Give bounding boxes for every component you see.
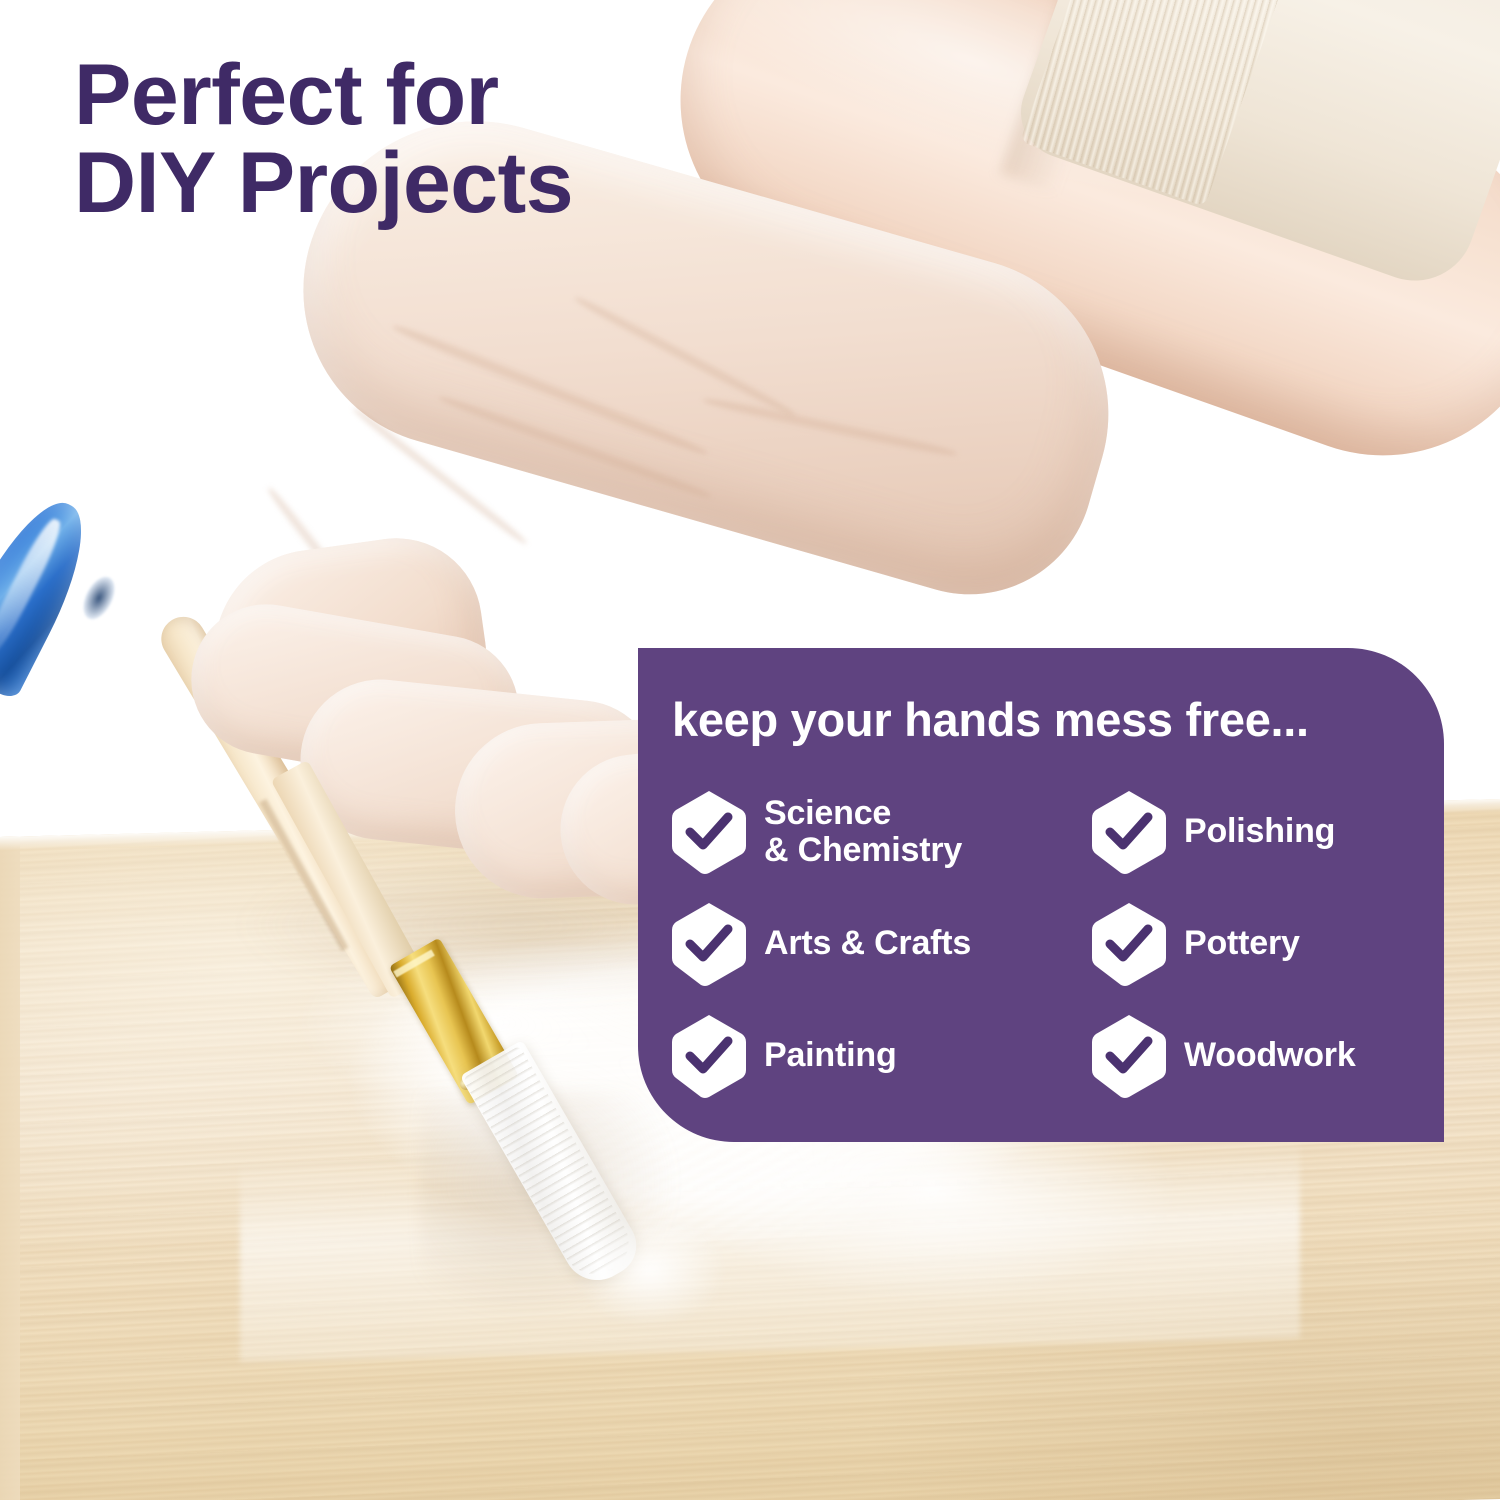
list-item-label: Arts & Crafts <box>764 925 971 962</box>
wooden-board-side-edge <box>0 836 20 1500</box>
list-item: Polishing <box>1092 789 1432 875</box>
list-item: Pottery <box>1092 901 1432 987</box>
list-item-label: Woodwork <box>1184 1037 1356 1074</box>
list-item-label: Painting <box>764 1037 897 1074</box>
feature-checklist: Science & Chemistry Polishing <box>672 776 1432 1112</box>
check-hexagon-icon <box>1092 1013 1166 1099</box>
list-item: Arts & Crafts <box>672 901 1092 987</box>
check-hexagon-icon <box>1092 789 1166 875</box>
card-title: keep your hands mess free... <box>672 692 1309 747</box>
check-hexagon-icon <box>1092 901 1166 987</box>
check-hexagon-icon <box>672 1013 746 1099</box>
list-item-label: Pottery <box>1184 925 1300 962</box>
product-marketing-image: Perfect for DIY Projects keep your hands… <box>0 0 1500 1500</box>
bristle-tip-paint <box>575 1215 725 1325</box>
list-item-label: Polishing <box>1184 813 1335 850</box>
blue-brush-cap-slot <box>77 572 121 625</box>
white-paint-streak <box>240 1138 1300 1362</box>
list-item-label: Science & Chemistry <box>764 795 962 870</box>
list-item: Painting <box>672 1013 1092 1099</box>
features-card: keep your hands mess free... Science & C… <box>638 648 1444 1142</box>
check-hexagon-icon <box>672 789 746 875</box>
list-item: Science & Chemistry <box>672 789 1092 875</box>
list-item: Woodwork <box>1092 1013 1432 1099</box>
page-title: Perfect for DIY Projects <box>74 52 573 227</box>
check-hexagon-icon <box>672 901 746 987</box>
